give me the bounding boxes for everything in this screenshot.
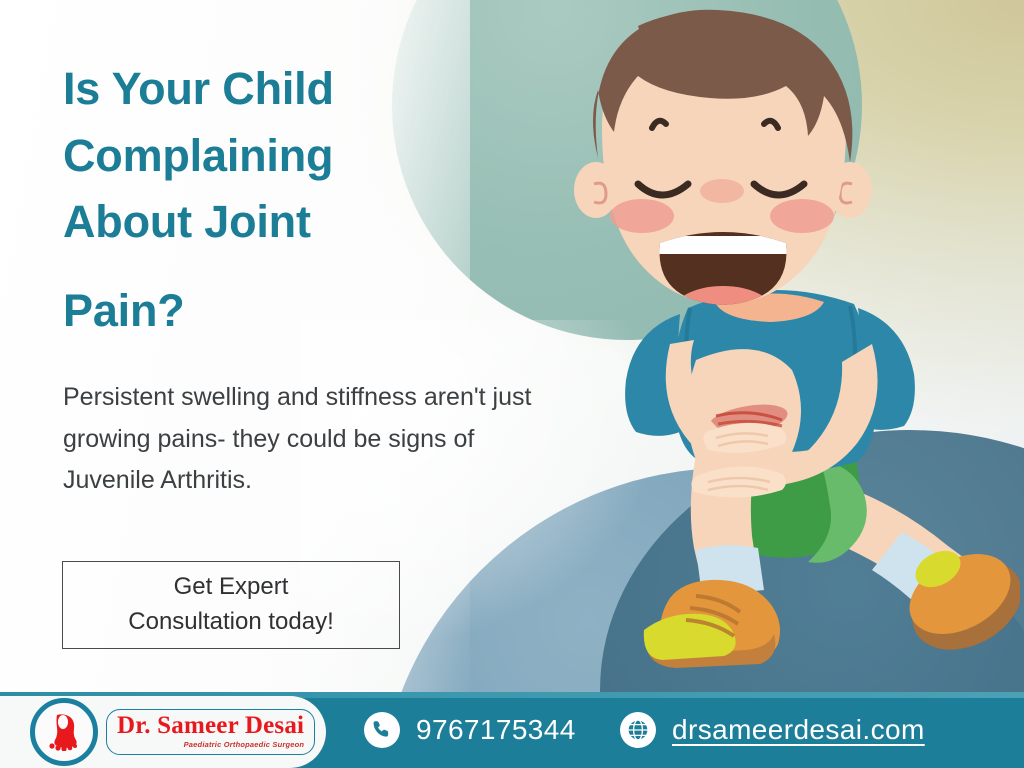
child-head	[574, 10, 872, 342]
headline-line-1: Is Your Child	[63, 63, 334, 114]
cta-button[interactable]: Get Expert Consultation today!	[62, 561, 400, 649]
body-text: Persistent swelling and stiffness aren't…	[63, 377, 533, 502]
phone-number: 9767175344	[416, 714, 576, 746]
website-url[interactable]: drsameerdesai.com	[672, 714, 925, 746]
logo-panel[interactable]: Dr. Sameer Desai Paediatric Orthopaedic …	[0, 696, 326, 768]
page-title: Is Your Child Complaining About Joint Pa…	[63, 56, 483, 344]
footer-bar: Dr. Sameer Desai Paediatric Orthopaedic …	[0, 692, 1024, 768]
logo-subtitle: Paediatric Orthopaedic Surgeon	[117, 740, 304, 749]
poster-root: Is Your Child Complaining About Joint Pa…	[0, 0, 1024, 768]
cta-line-1: Get Expert	[174, 573, 289, 600]
shoe-left	[644, 580, 780, 668]
headline-block: Is Your Child Complaining About Joint Pa…	[63, 56, 483, 344]
cta-label: Get Expert Consultation today!	[128, 570, 333, 640]
phone-contact[interactable]: 9767175344	[364, 692, 576, 768]
headline-line-4: Pain?	[63, 278, 483, 345]
headline-line-3: About Joint	[63, 196, 311, 247]
cta-line-2: Consultation today!	[128, 608, 333, 635]
child-illustration	[520, 8, 1020, 698]
child-body	[625, 290, 1020, 668]
website-contact[interactable]: drsameerdesai.com	[620, 692, 925, 768]
phone-icon	[364, 712, 400, 748]
headline-line-2: Complaining	[63, 130, 333, 181]
logo-name: Dr. Sameer Desai	[117, 713, 304, 740]
logo-text-box: Dr. Sameer Desai Paediatric Orthopaedic …	[106, 709, 315, 756]
footprint-icon	[30, 698, 98, 766]
globe-icon	[620, 712, 656, 748]
